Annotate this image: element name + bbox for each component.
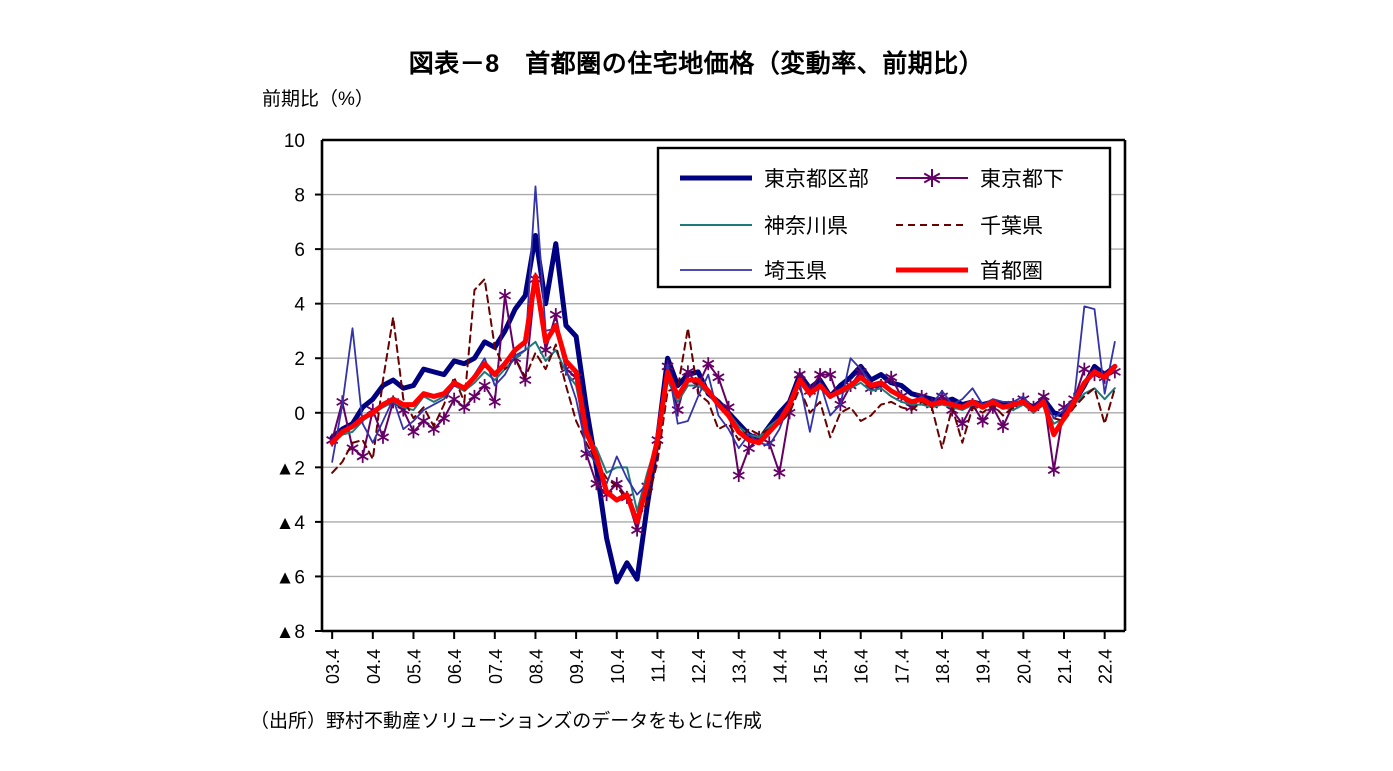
chart-legend: 東京都区部東京都下神奈川県千葉県埼玉県首都圏	[658, 148, 1110, 287]
y-axis-tick-label: 10	[284, 131, 305, 152]
y-axis-tick-label: 6	[294, 240, 305, 261]
x-axis-tick-label: 14.4	[770, 649, 790, 684]
x-axis-tick-label: 22.4	[1096, 649, 1116, 684]
legend-label-0: 東京都区部	[764, 168, 869, 191]
legend-label-3: 千葉県	[980, 215, 1043, 238]
series-line-5	[332, 276, 1115, 522]
x-axis-tick-label: 08.4	[526, 649, 546, 684]
x-axis-tick-label: 21.4	[1055, 649, 1075, 684]
legend-label-1: 東京都下	[980, 168, 1064, 191]
x-axis-tick-labels: 03.404.405.406.407.408.409.410.411.412.4…	[323, 649, 1116, 684]
x-axis-tick-label: 06.4	[445, 649, 465, 684]
y-axis-tick-label: ▲8	[276, 622, 305, 643]
x-axis-tick-label: 17.4	[892, 649, 912, 684]
y-axis-tick-label: 0	[294, 404, 305, 425]
x-axis-tick-label: 13.4	[730, 649, 750, 684]
y-axis-tick-label: 2	[294, 349, 305, 370]
x-axis-tick-label: 18.4	[933, 649, 953, 684]
legend-label-5: 首都圏	[980, 260, 1043, 283]
x-axis-tick-label: 09.4	[567, 649, 587, 684]
y-axis-tick-labels: 1086420▲2▲4▲6▲8	[276, 131, 306, 643]
x-axis-tick-label: 15.4	[811, 649, 831, 684]
series-line-3	[332, 279, 1115, 519]
figure-container: 図表－8 首都圏の住宅地価格（変動率、前期比） 前期比（%） （出所）野村不動産…	[0, 0, 1393, 771]
x-axis-tick-label: 03.4	[323, 649, 343, 684]
x-axis-tick-label: 04.4	[364, 649, 384, 684]
chart-plot: 1086420▲2▲4▲6▲8 03.404.405.406.407.408.4…	[0, 0, 1393, 771]
y-axis-tick-label: ▲2	[276, 458, 305, 479]
legend-label-2: 神奈川県	[764, 215, 848, 238]
x-axis-tick-label: 11.4	[648, 649, 668, 683]
x-axis-tick-label: 12.4	[689, 649, 709, 684]
x-axis-tick-label: 05.4	[404, 649, 424, 684]
y-axis-tick-label: ▲6	[276, 567, 305, 588]
y-axis-tick-label: ▲4	[276, 513, 306, 534]
y-axis-tick-label: 4	[294, 295, 305, 316]
x-axis-tick-label: 16.4	[852, 649, 872, 684]
legend-label-4: 埼玉県	[764, 260, 827, 283]
x-axis-tick-label: 19.4	[974, 649, 994, 684]
x-axis-tick-label: 07.4	[486, 649, 506, 684]
y-axis-tick-label: 8	[294, 186, 305, 207]
x-axis-tick-label: 10.4	[608, 649, 628, 684]
x-axis-tick-label: 20.4	[1014, 649, 1034, 684]
